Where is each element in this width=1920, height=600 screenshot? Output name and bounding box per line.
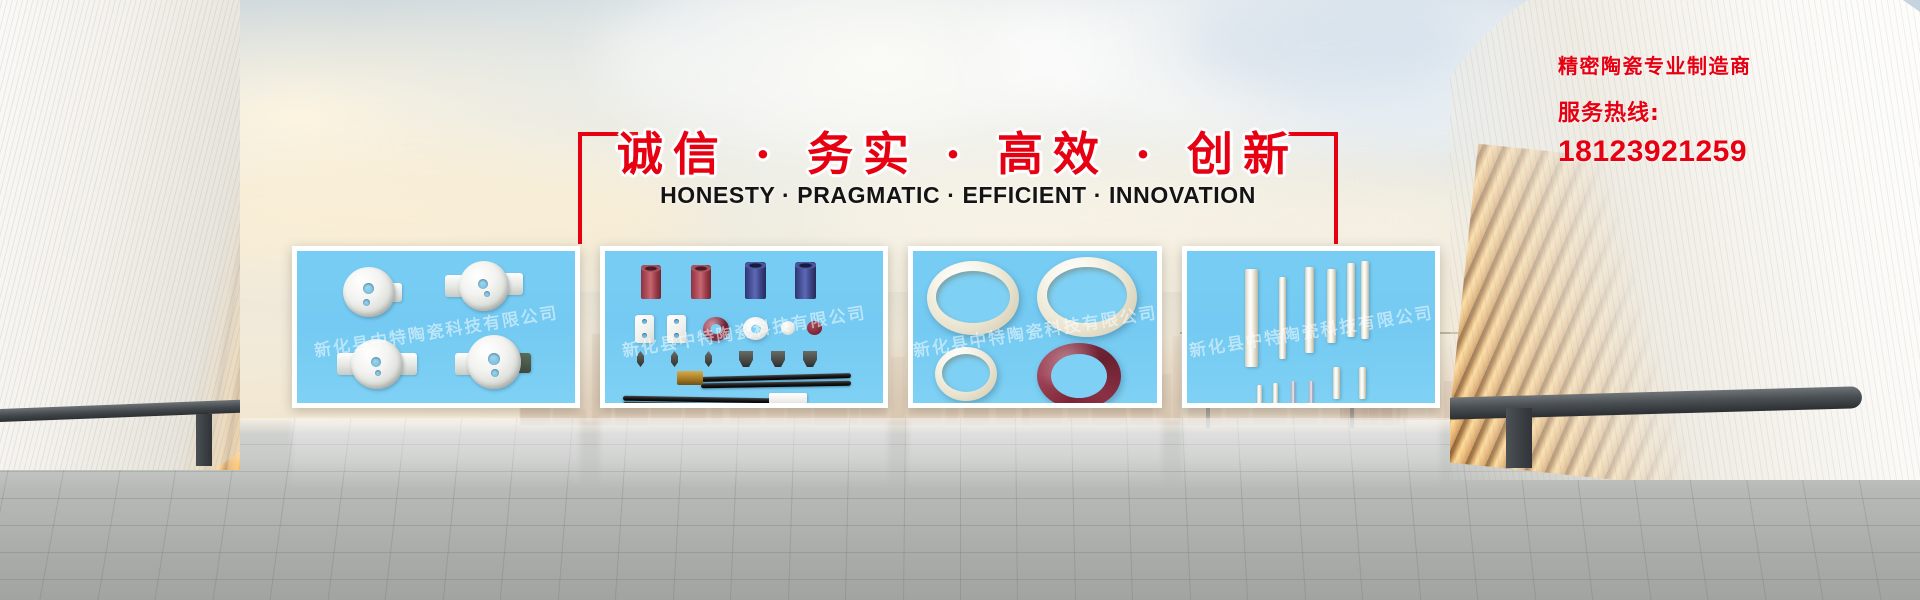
floor-tile-line [1071,418,1076,600]
floor-tile-line [615,418,628,600]
ceramic-bead-white [781,321,795,335]
floor-tile-line [1348,418,1363,600]
metal-clip [739,351,753,367]
floor-tile-line [1403,418,1421,600]
canopy-ribs-left [0,0,240,470]
ceramic-rod [1245,269,1258,367]
floor-tile-line [1182,418,1191,600]
company-tagline: 精密陶瓷专业制造商 [1558,50,1888,79]
brass-terminal [677,371,703,385]
ceramic-rod [1347,263,1355,337]
ceramic-tube-blue [745,262,766,299]
slogan-english: HONESTY · PRAGMATIC · EFFICIENT · INNOVA… [578,182,1338,209]
metal-clip [803,351,817,367]
product-panel-ceramic-tubes[interactable]: 新化县中特陶瓷科技有限公司 [600,246,888,408]
hotline-number[interactable]: 18123921259 [1558,135,1888,169]
floor-tile-line [845,418,850,600]
ceramic-disc-maroon [807,321,822,335]
slogan-chinese: 诚信 · 务实 · 高效 · 创新 [578,118,1338,184]
ceramic-lamp-socket [339,267,401,319]
floor-tile-line [270,418,296,600]
ceramic-plate [667,315,686,343]
floor-tile-line [327,418,351,600]
ceramic-ring-maroon [703,317,729,341]
floor-tile-line [443,418,462,600]
floor-tile-line [960,418,961,600]
product-panel-row: 新化县中特陶瓷科技有限公司 [292,246,1542,408]
ceramic-pin [1291,381,1295,403]
ceramic-lamp-socket [455,335,541,393]
ceramic-rod-short [1359,367,1366,399]
ceramic-rod-short [1257,385,1262,403]
wire-lead [701,381,851,389]
ceramic-tube-blue [795,262,816,299]
floor-tile-line [500,418,518,600]
cloud [1180,0,1480,100]
panel-4-canvas: 新化县中特陶瓷科技有限公司 [1187,251,1435,403]
metal-clip [771,351,785,367]
product-panel-ceramic-rings[interactable]: 新化县中特陶瓷科技有限公司 [908,246,1162,408]
ceramic-lamp-socket [337,337,417,393]
panel-2-canvas: 新化县中特陶瓷科技有限公司 [605,251,883,403]
ceramic-rod [1327,269,1336,343]
terminal-clip [705,351,712,367]
ceramic-rod-short [1273,383,1278,403]
floor-tile-line [385,418,407,600]
bench-leg-right [1506,408,1532,468]
ceramic-ring-small [935,347,997,401]
contact-block: 精密陶瓷专业制造商 服务热线: 18123921259 [1558,50,1888,169]
ceramic-rod-short [1333,367,1340,399]
floor-tile-line [558,418,573,600]
floor-tile-line [1126,418,1133,600]
product-panel-ceramic-rods[interactable]: 新化县中特陶瓷科技有限公司 [1182,246,1440,408]
floor-tile-line [673,418,684,600]
promotional-banner: 诚信 · 务实 · 高效 · 创新 HONESTY · PRAGMATIC · … [0,0,1920,600]
ceramic-lamp-socket [445,261,523,315]
product-panel-ceramic-lamp-sockets[interactable]: 新化县中特陶瓷科技有限公司 [292,246,580,408]
ceramic-tube-red [641,265,661,299]
floor-tile-line [1293,418,1306,600]
ceramic-rod [1361,261,1369,339]
floor-tile-line [1237,418,1248,600]
panel-1-canvas: 新化县中特陶瓷科技有限公司 [297,251,575,403]
ceramic-rod [1279,277,1286,359]
slogan-block: 诚信 · 务实 · 高效 · 创新 HONESTY · PRAGMATIC · … [578,132,1338,242]
white-connector [769,393,807,403]
floor-tile-line [730,418,739,600]
hotline-label: 服务热线: [1558,95,1888,127]
floor-tile-line [903,418,906,600]
ceramic-pin [1309,381,1313,403]
floor-tile-line [788,418,795,600]
terminal-clip [671,351,678,367]
ceramic-plate [635,315,654,343]
panel-3-canvas: 新化县中特陶瓷科技有限公司 [913,251,1157,403]
left-architecture [0,0,240,470]
terminal-clip [637,351,644,367]
ceramic-rod [1305,267,1314,353]
ceramic-ring-white [743,317,768,340]
floor-tile-line [1016,418,1019,600]
ceramic-ring-large [927,261,1019,335]
handrail-post-left [196,414,212,466]
ceramic-tube-red [691,265,711,299]
ceramic-ring-maroon-large [1037,343,1121,403]
ceramic-ring-large [1037,257,1137,337]
